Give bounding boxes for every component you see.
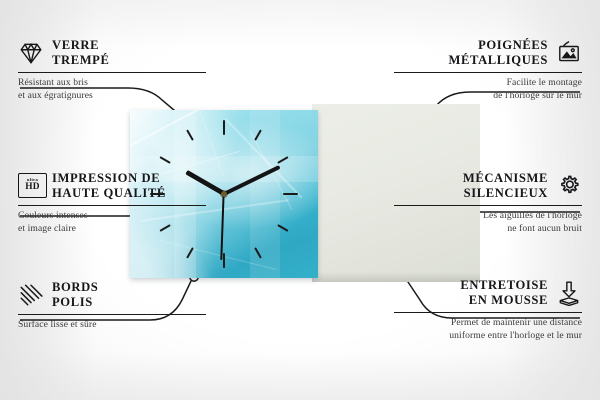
feature-title-line1: POIGNÉES bbox=[478, 38, 548, 52]
feature-title-line2: EN MOUSSE bbox=[469, 293, 548, 307]
feature-sub-line1: Les aiguilles de l'horloge bbox=[483, 210, 582, 221]
divider bbox=[18, 205, 206, 207]
diamond-icon bbox=[18, 40, 44, 66]
divider bbox=[394, 205, 582, 207]
feature-title-line1: BORDS bbox=[52, 280, 98, 294]
feature-sub-line1: Permet de maintenir une distance bbox=[451, 317, 582, 328]
clock-tick bbox=[223, 120, 225, 194]
feature-sub-line1: Couleurs intenses bbox=[18, 210, 88, 221]
feature-title-line1: VERRE bbox=[52, 38, 99, 52]
hd-label: HD bbox=[25, 183, 39, 192]
feature-poignees-metalliques: POIGNÉESMÉTALLIQUES Facilite le montaged… bbox=[394, 38, 582, 102]
gear-icon bbox=[556, 173, 582, 199]
feature-sub-line2: ne font aucun bruit bbox=[507, 223, 582, 234]
feature-sub-line1: Facilite le montage bbox=[507, 77, 582, 88]
feature-title-line2: MÉTALLIQUES bbox=[449, 53, 548, 67]
feature-verre-trempe: VERRETREMPÉ Résistant aux briset aux égr… bbox=[18, 38, 206, 102]
feature-sub-line1: Résistant aux bris bbox=[18, 77, 88, 88]
ultra-hd-icon: ultra HD bbox=[18, 173, 44, 199]
feature-mecanisme-silencieux: MÉCANISMESILENCIEUX Les aiguilles de l'h… bbox=[394, 171, 582, 235]
feature-title-line2: HAUTE QUALITÉ bbox=[52, 186, 166, 200]
feature-title-line1: MÉCANISME bbox=[463, 171, 548, 185]
feature-title-line1: ENTRETOISE bbox=[460, 278, 548, 292]
feature-sub-line2: uniforme entre l'horloge et le mur bbox=[449, 330, 582, 341]
divider bbox=[394, 72, 582, 74]
polished-edges-icon bbox=[18, 282, 44, 308]
clock-tick bbox=[224, 193, 298, 195]
feature-title-line1: IMPRESSION DE bbox=[52, 171, 160, 185]
divider bbox=[394, 312, 582, 314]
feature-title-line2: SILENCIEUX bbox=[464, 186, 548, 200]
feature-sub-line2: et aux égratignures bbox=[18, 90, 93, 101]
feature-sub-line2: et image claire bbox=[18, 223, 76, 234]
picture-frame-hook-icon bbox=[556, 40, 582, 66]
feature-title-line2: POLIS bbox=[52, 295, 93, 309]
clock-center-cap bbox=[221, 191, 227, 197]
feature-title-line2: TREMPÉ bbox=[52, 53, 109, 67]
feature-sub-line2: de l'horloge sur le mur bbox=[493, 90, 582, 101]
press-down-arrow-icon bbox=[556, 280, 582, 306]
feature-bords-polis: BORDSPOLIS Surface lisse et sûre bbox=[18, 280, 206, 332]
feature-sub-line1: Surface lisse et sûre bbox=[18, 319, 97, 330]
divider bbox=[18, 314, 206, 316]
feature-entretoise-en-mousse: ENTRETOISEEN MOUSSE Permet de maintenir … bbox=[394, 278, 582, 342]
divider bbox=[18, 72, 206, 74]
infographic-canvas: VERRETREMPÉ Résistant aux briset aux égr… bbox=[0, 0, 600, 400]
feature-impression-hd: ultra HD IMPRESSION DEHAUTE QUALITÉ Coul… bbox=[18, 171, 206, 235]
